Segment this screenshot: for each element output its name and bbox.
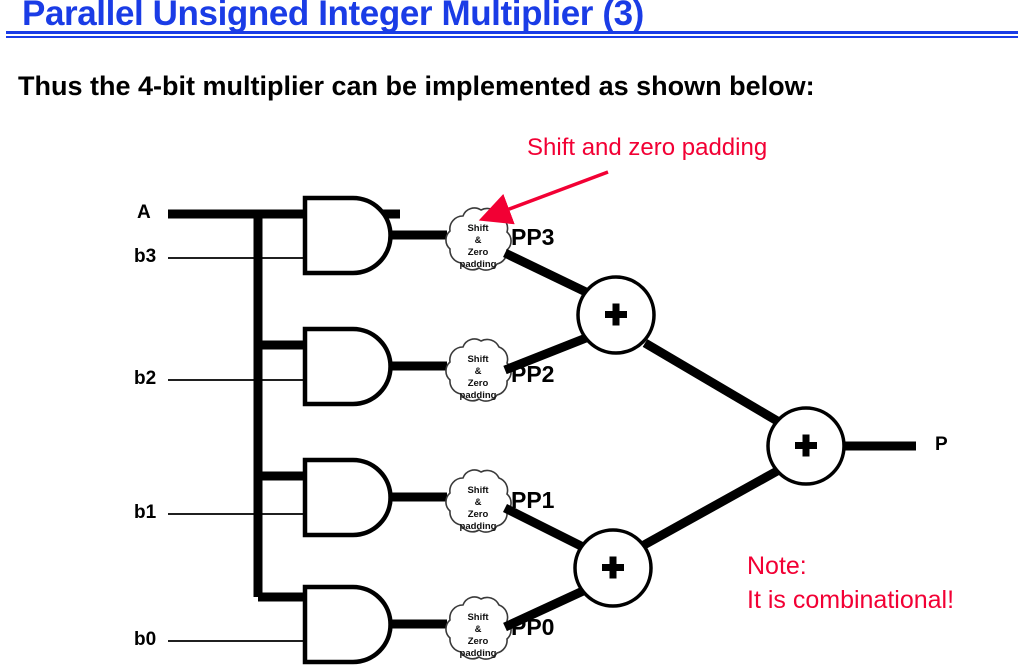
shift-pad-cloud-pp1: Shift & Zero padding [446,470,511,532]
shift-pad-cloud-pp3: Shift & Zero padding [446,208,511,270]
input-label-A: A [137,202,151,224]
cloud-line-2: & [475,235,482,246]
cloud-line-2: & [475,624,482,635]
input-label-b3: b3 [134,246,156,268]
input-label-b1: b1 [134,502,156,524]
cloud-line-1: Shift [467,485,489,496]
input-label-b2: b2 [134,368,156,390]
cloud-line-1: Shift [467,223,489,234]
cloud-line-4: padding [460,259,497,270]
shift-pad-cloud-pp2: Shift & Zero padding [446,339,511,401]
cloud-line-2: & [475,497,482,508]
partial-product-label-pp2: PP2 [511,361,554,388]
partial-product-label-pp1: PP1 [511,487,554,514]
gate-output-wires [392,235,447,624]
shift-padding-annotation: Shift and zero padding [527,134,767,162]
adder-top [578,277,654,353]
note-line-2: It is combinational! [747,583,954,617]
cloud-line-3: Zero [468,509,489,520]
cloud-line-1: Shift [467,354,489,365]
cloud-line-1: Shift [467,612,489,623]
partial-product-label-pp0: PP0 [511,614,554,641]
adder-final [768,408,844,484]
cloud-line-4: padding [460,521,497,532]
shift-pad-cloud-pp0: Shift & Zero padding [446,597,511,659]
and-gate-b0 [305,587,391,662]
adder-bottom [575,530,651,606]
partial-product-label-pp3: PP3 [511,224,554,251]
output-label-P: P [935,434,948,456]
and-gate-b3 [305,198,391,273]
cloud-line-4: padding [460,648,497,659]
cloud-line-2: & [475,366,482,377]
cloud-line-3: Zero [468,636,489,647]
cloud-line-3: Zero [468,247,489,258]
note-line-1: Note: [747,549,954,583]
bus-branch-stubs [258,214,307,597]
wire-pp3 [505,253,588,293]
input-label-b0: b0 [134,629,156,651]
shift-annotation-arrow [504,172,608,211]
cloud-line-4: padding [460,390,497,401]
wire-adder-top-out [645,343,779,422]
input-wires-b [168,258,307,641]
note-annotation: Note: It is combinational! [747,549,954,617]
cloud-line-3: Zero [468,378,489,389]
and-gate-b1 [305,460,391,535]
wire-adder-bot-out [644,470,779,545]
and-gate-b2 [305,329,391,404]
